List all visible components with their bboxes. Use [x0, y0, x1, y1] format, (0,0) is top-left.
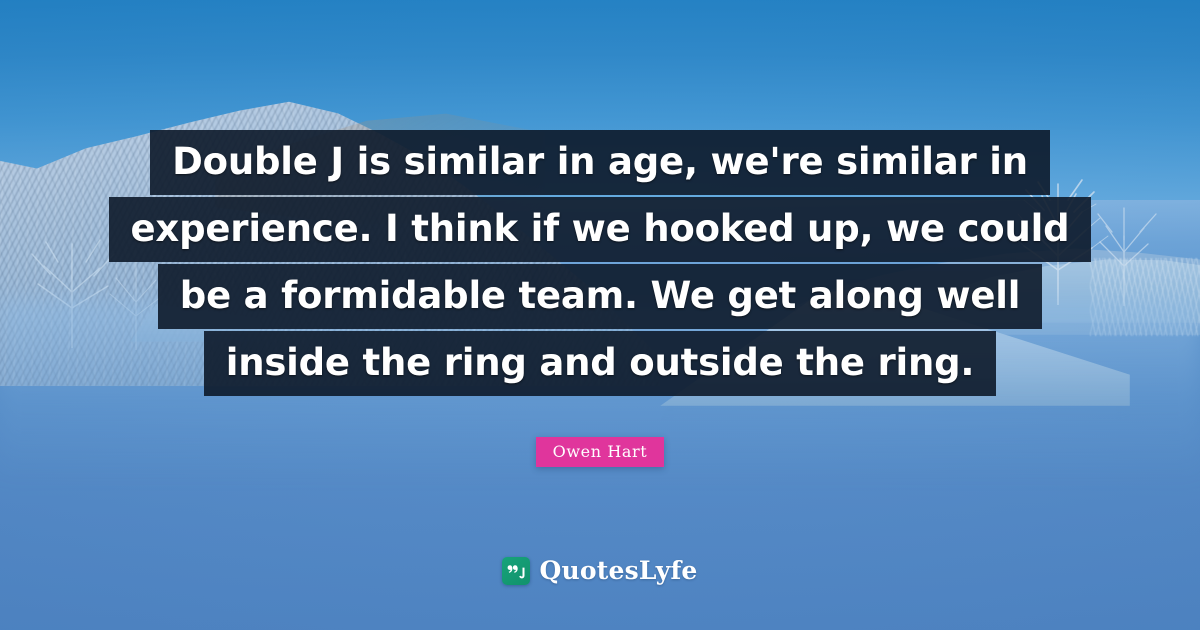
brand-logo[interactable]: QuotesLyfe: [0, 556, 1200, 585]
quote-line: inside the ring and outside the ring.: [204, 331, 997, 396]
author-name-badge[interactable]: Owen Hart: [536, 437, 665, 467]
quote-line: Double J is similar in age, we're simila…: [150, 130, 1050, 195]
brand-name: QuotesLyfe: [539, 556, 697, 585]
quote-line: be a formidable team. We get along well: [158, 264, 1042, 329]
quote-line: experience. I think if we hooked up, we …: [109, 197, 1092, 262]
quote-mark-icon: [502, 557, 530, 585]
quote-image-canvas: Double J is similar in age, we're simila…: [0, 0, 1200, 630]
author-badge-container: Owen Hart: [0, 437, 1200, 467]
quote-text-block: Double J is similar in age, we're simila…: [0, 130, 1200, 396]
